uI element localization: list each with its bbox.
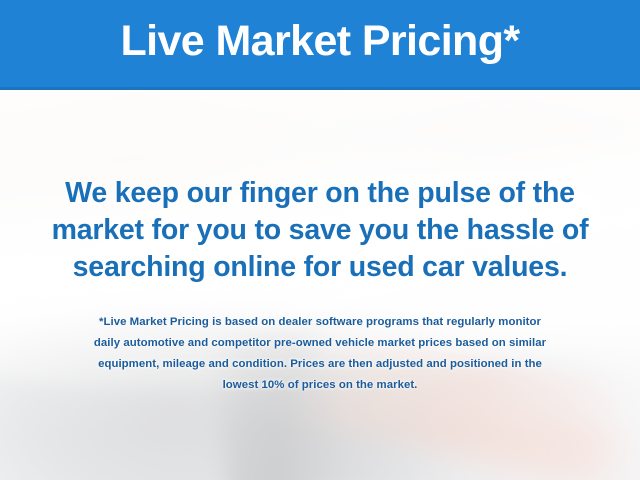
headline-text: We keep our finger on the pulse of the m…: [20, 175, 620, 286]
headline-line-1: We keep our finger on the pulse of the: [20, 175, 620, 212]
live-market-pricing-promo-card: Live Market Pricing* We keep our finger …: [0, 0, 640, 480]
disclaimer-line-4: lowest 10% of prices on the market.: [20, 375, 620, 396]
disclaimer-line-2: daily automotive and competitor pre-owne…: [20, 333, 620, 354]
header-banner: Live Market Pricing*: [0, 0, 640, 90]
disclaimer-line-1: *Live Market Pricing is based on dealer …: [20, 312, 620, 333]
page-title: Live Market Pricing*: [120, 20, 519, 67]
headline-line-2: market for you to save you the hassle of: [20, 212, 620, 249]
disclaimer-line-3: equipment, mileage and condition. Prices…: [20, 354, 620, 375]
disclaimer-text: *Live Market Pricing is based on dealer …: [20, 312, 620, 396]
headline-line-3: searching online for used car values.: [20, 249, 620, 286]
content-area: We keep our finger on the pulse of the m…: [0, 90, 640, 480]
